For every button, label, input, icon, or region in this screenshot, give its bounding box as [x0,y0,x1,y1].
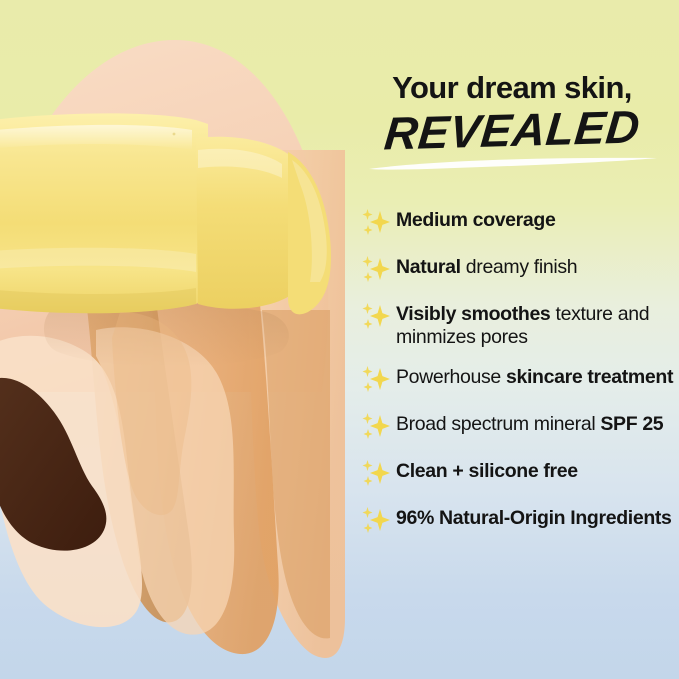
benefit-text: Broad spectrum mineral SPF 25 [396,409,679,436]
benefit-text: Visibly smoothes texture and minmizes po… [396,299,679,349]
benefit-text-part: Clean + silicone free [396,460,578,482]
benefit-text-part: Natural [396,256,461,278]
benefit-item-powerhouse-skincare: Powerhouse skincare treatment [358,362,679,396]
benefit-item-broad-spectrum-spf: Broad spectrum mineral SPF 25 [358,409,679,443]
headline-block: Your dream skin, REVEALED [345,72,679,169]
benefit-text: 96% Natural-Origin Ingredients [396,503,679,530]
sparkle-icon [358,410,391,443]
headline-line-2-wrap: REVEALED [345,107,679,169]
sparkle-icon [358,253,391,286]
benefits-list: Medium coverage Natural dreamy finish Vi… [358,205,679,550]
benefit-text-part: dreamy finish [461,256,577,278]
benefit-text-part: Broad spectrum mineral [396,413,600,435]
sparkle-icon [358,206,391,239]
sparkle-icon [358,504,391,537]
benefit-item-natural-dreamy-finish: Natural dreamy finish [358,252,679,286]
benefit-text-part: skincare treatment [506,366,673,388]
benefit-text: Medium coverage [396,205,679,232]
sparkle-icon [358,457,391,490]
benefit-text-part: Powerhouse [396,366,506,388]
benefit-text-part: Medium coverage [396,209,555,231]
sparkle-icon [358,253,391,286]
benefit-item-visibly-smoothes: Visibly smoothes texture and minmizes po… [358,299,679,349]
benefit-text: Clean + silicone free [396,456,679,483]
sparkle-icon [358,457,391,490]
benefit-text-part: 96% Natural-Origin Ingredients [396,507,672,529]
benefit-text-part: SPF 25 [600,413,663,435]
sparkle-icon [358,504,391,537]
benefit-text: Powerhouse skincare treatment [396,362,679,389]
sparkle-icon [358,410,391,443]
benefit-item-clean-silicone-free: Clean + silicone free [358,456,679,490]
product-image [0,0,345,679]
product-feature-graphic: Your dream skin, REVEALED Medium coverag… [0,0,679,679]
benefit-text-part: Visibly smoothes [396,303,550,325]
benefit-item-medium-coverage: Medium coverage [358,205,679,239]
benefit-item-natural-origin-ingredients: 96% Natural-Origin Ingredients [358,503,679,537]
benefit-text: Natural dreamy finish [396,252,679,279]
headline-line-1: Your dream skin, [345,72,679,105]
sparkle-icon [358,206,391,239]
sparkle-icon [358,363,391,396]
copy-column: Your dream skin, REVEALED Medium coverag… [345,0,679,679]
sparkle-icon [358,300,391,333]
headline-line-2: REVEALED [382,103,642,156]
sparkle-icon [358,300,391,333]
sparkle-icon [358,363,391,396]
